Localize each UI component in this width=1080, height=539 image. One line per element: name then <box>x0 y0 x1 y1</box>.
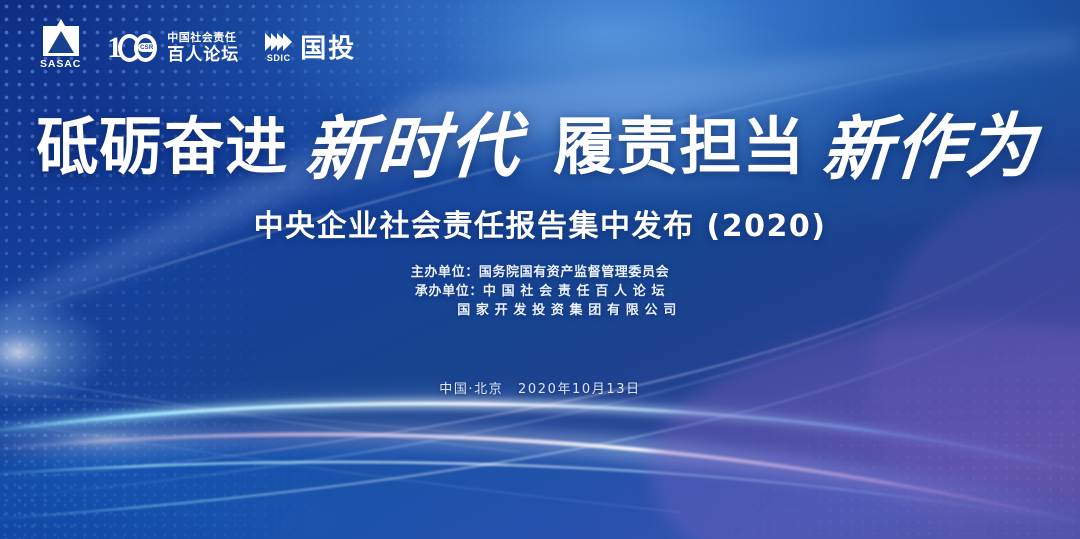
logo-bar: SASAC 1 CSR 中国社会责任 百人论坛 SDIC 国投 <box>40 26 356 70</box>
csr-forum-line2: 百人论坛 <box>167 45 239 64</box>
poster-canvas: SASAC 1 CSR 中国社会责任 百人论坛 SDIC 国投 <box>0 0 1080 539</box>
event-place-date: 中国·北京 2020年10月13日 <box>0 378 1080 397</box>
hundred-numeral-icon: 1 CSR <box>107 31 159 65</box>
organizer-line-host: 主办单位：国务院国有资产监督管理委员会 <box>0 263 1080 282</box>
sasac-wordmark: SASAC <box>40 58 81 70</box>
sdic-logo: SDIC 国投 <box>265 33 356 63</box>
poster-subtitle: 中央企业社会责任报告集中发布 (2020) <box>0 208 1080 246</box>
sdic-wordmark: SDIC <box>267 53 291 63</box>
csr-forum-wordmark: 中国社会责任 百人论坛 <box>167 32 239 64</box>
csr-badge: CSR <box>138 43 155 52</box>
sdic-chevron-icon: SDIC <box>265 33 292 63</box>
poster-headline: 砥砺奋进 新时代 履责担当 新作为 <box>0 112 1080 184</box>
organizer-line-cohost-2: 国 家 开 发 投 资 集 团 有 限 公 司 <box>0 301 1080 320</box>
headline-brush-a: 新时代 <box>302 110 523 187</box>
organizer-line-cohost-1: 承办单位：中 国 社 会 责 任 百 人 论 坛 <box>0 282 1080 301</box>
csr-100-forum-logo: 1 CSR 中国社会责任 百人论坛 <box>107 31 239 65</box>
sasac-triangle-icon <box>43 26 79 56</box>
organizer-block: 主办单位：国务院国有资产监督管理委员会 承办单位：中 国 社 会 责 任 百 人… <box>0 263 1080 320</box>
sdic-chinese-name: 国投 <box>300 34 356 62</box>
headline-segment-b: 履责担当 <box>553 112 805 184</box>
csr-forum-line1: 中国社会责任 <box>167 32 239 44</box>
headline-segment-a: 砥砺奋进 <box>36 112 288 184</box>
headline-brush-b: 新作为 <box>819 110 1040 187</box>
sasac-logo: SASAC <box>40 26 81 70</box>
